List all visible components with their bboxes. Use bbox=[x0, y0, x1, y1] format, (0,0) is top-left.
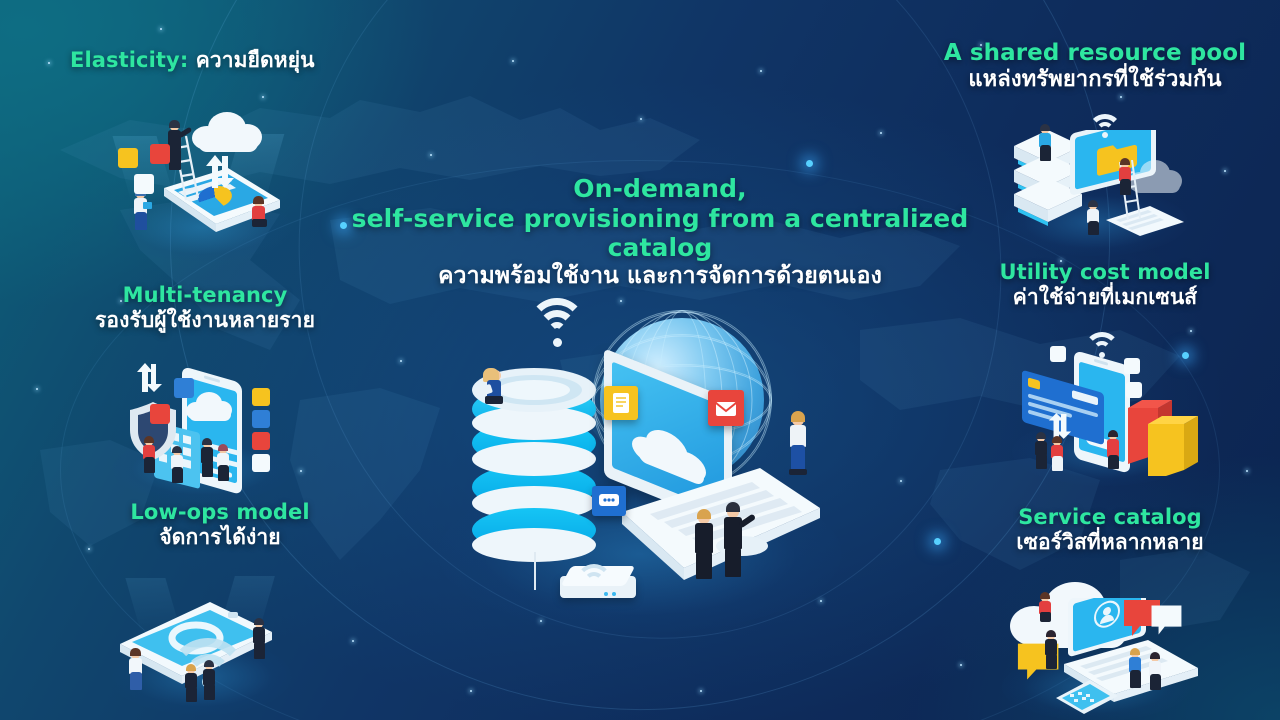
label-elasticity-en: Elasticity: bbox=[70, 48, 196, 72]
doc-card-3 bbox=[1126, 382, 1142, 398]
multi-tenancy-illustration bbox=[112, 352, 292, 496]
label-low-ops-en: Low-ops model bbox=[75, 500, 365, 525]
low-ops-illustration bbox=[110, 572, 292, 712]
shared-pool-illustration bbox=[1002, 108, 1188, 250]
app-card-red bbox=[252, 432, 270, 450]
sync-arrows-icon bbox=[136, 362, 162, 392]
glow-node-2 bbox=[806, 160, 813, 167]
chat-bubble-white bbox=[1148, 602, 1192, 646]
mail-card-icon bbox=[708, 390, 744, 426]
app-card-red bbox=[150, 144, 170, 164]
label-service-catalog: Service catalog เซอร์วิสที่หลากหลาย bbox=[960, 505, 1260, 555]
label-multi-tenancy-en: Multi-tenancy bbox=[55, 283, 355, 308]
label-on-demand: On-demand, self-service provisioning fro… bbox=[330, 174, 990, 290]
utility-cost-illustration bbox=[1012, 332, 1198, 480]
label-low-ops-th: จัดการได้ง่าย bbox=[75, 525, 365, 550]
app-card-blue-small bbox=[174, 378, 194, 398]
wifi-icon bbox=[1084, 332, 1122, 360]
label-elasticity-th: ความยืดหยุ่น bbox=[196, 48, 315, 72]
label-shared-resource-pool: A shared resource pool แหล่งทรัพยากรที่ใ… bbox=[930, 40, 1260, 93]
wifi-icon bbox=[528, 298, 588, 348]
app-card-white bbox=[252, 454, 270, 472]
chat-card-icon bbox=[592, 486, 626, 516]
label-elasticity: Elasticity: ความยืดหยุ่น bbox=[70, 48, 400, 73]
glow-node-4 bbox=[934, 538, 941, 545]
label-multi-tenancy: Multi-tenancy รองรับผู้ใช้งานหลายราย bbox=[55, 283, 355, 333]
label-multi-tenancy-th: รองรับผู้ใช้งานหลายราย bbox=[55, 308, 355, 333]
center-illustration bbox=[430, 290, 850, 620]
database-cable bbox=[534, 552, 536, 590]
shopping-bags-graphic bbox=[1120, 386, 1200, 476]
doc-card-1 bbox=[1050, 346, 1066, 362]
document-card-icon bbox=[604, 386, 638, 420]
label-on-demand-en-line2: self-service provisioning from a central… bbox=[330, 204, 990, 263]
app-card-red-small bbox=[150, 404, 170, 424]
label-on-demand-en-line1: On-demand, bbox=[330, 174, 990, 204]
label-utility-cost-en: Utility cost model bbox=[955, 260, 1255, 285]
label-shared-pool-th: แหล่งทรัพยากรที่ใช้ร่วมกัน bbox=[930, 67, 1260, 93]
label-shared-pool-en: A shared resource pool bbox=[930, 40, 1260, 67]
app-card-yellow bbox=[118, 148, 138, 168]
label-service-catalog-th: เซอร์วิสที่หลากหลาย bbox=[960, 530, 1260, 555]
app-card-yellow bbox=[252, 388, 270, 406]
label-on-demand-th: ความพร้อมใช้งาน และการจัดการด้วยตนเอง bbox=[330, 263, 990, 290]
wifi-icon bbox=[1088, 114, 1124, 140]
elasticity-illustration bbox=[112, 106, 292, 256]
app-card-blue bbox=[252, 410, 270, 428]
label-service-catalog-en: Service catalog bbox=[960, 505, 1260, 530]
service-catalog-illustration bbox=[1002, 576, 1190, 718]
tablet-graphic bbox=[1048, 666, 1128, 720]
credit-card-graphic bbox=[1016, 362, 1136, 452]
sync-arrows-icon bbox=[1048, 412, 1072, 440]
app-card-white bbox=[134, 174, 154, 194]
scale-arrows-icon bbox=[204, 154, 234, 188]
label-utility-cost-th: ค่าใช้จ่ายที่เมกเซนส์ bbox=[955, 285, 1255, 310]
doc-card-2 bbox=[1124, 358, 1140, 374]
infographic-slide: Elasticity: ความยืดหยุ่น A shared resour… bbox=[0, 0, 1280, 720]
label-utility-cost-model: Utility cost model ค่าใช้จ่ายที่เมกเซนส์ bbox=[955, 260, 1255, 310]
label-low-ops-model: Low-ops model จัดการได้ง่าย bbox=[75, 500, 365, 550]
